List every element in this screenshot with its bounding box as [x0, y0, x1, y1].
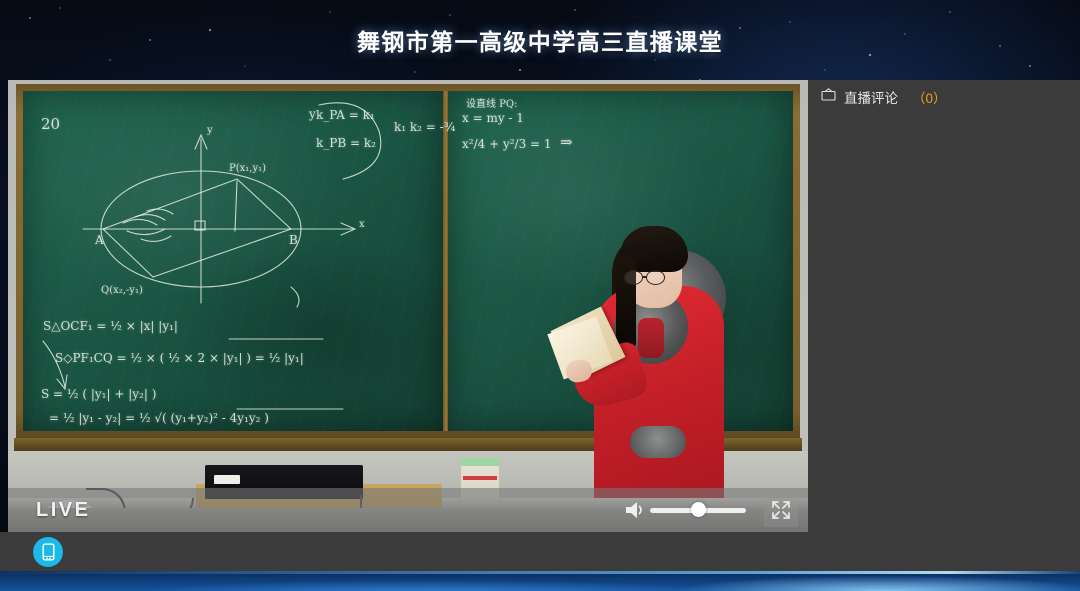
chalk-formula-4: = ½ |y₁ - y₂| = ½ √( (y₁+y₂)² - 4y₁y₂ ): [49, 411, 269, 425]
title-bar: 舞钢市第一高级中学高三直播课堂: [0, 0, 1080, 80]
chalk-diagram-svg: [23, 91, 443, 431]
fullscreen-icon[interactable]: [764, 493, 798, 527]
chalk-r-line3: x²/4 + y²/3 = 1: [462, 137, 552, 151]
chalk-point-q: Q(x₂,-y₁): [101, 285, 143, 296]
teacher-figure: [568, 198, 748, 532]
video-control-bar: LIVE: [8, 488, 808, 532]
video-player[interactable]: 20 y x P(x₁,y₁) A B Q(x₂,-y₁) S△OCF₁ = ½…: [8, 80, 808, 532]
footer-glow-strip: [0, 571, 1080, 591]
video-frame: 20 y x P(x₁,y₁) A B Q(x₂,-y₁) S△OCF₁ = ½…: [8, 80, 808, 532]
chalk-r-line1: 设直线 PQ:: [466, 95, 517, 110]
chalk-axis-x: x: [359, 219, 365, 230]
live-comments-list[interactable]: [808, 114, 1080, 572]
speaker-icon[interactable]: [622, 497, 648, 523]
tv-icon: [821, 88, 836, 106]
mobile-phone-icon[interactable]: [33, 537, 63, 567]
chalk-r-arrow: ⇒: [560, 133, 573, 151]
chalk-formula-2: S◇PF₁CQ = ½ × ( ½ × 2 × |y₁| ) = ½ |y₁|: [55, 351, 304, 365]
volume-slider[interactable]: [650, 508, 746, 513]
teacher-glasses-left: [624, 270, 643, 285]
desk-box-lid: [460, 458, 500, 466]
live-comments-title: 直播评论: [844, 87, 898, 107]
video-controls-right: [622, 493, 798, 527]
chalk-r-line2: x = my - 1: [462, 111, 524, 125]
teacher-glasses-bridge: [643, 276, 647, 278]
chalk-problem-number: 20: [41, 115, 60, 133]
live-comments-count: （0）: [912, 87, 947, 107]
teacher-coat-pocket-fur: [630, 426, 686, 458]
desk-box-stripe: [463, 476, 497, 480]
chalk-axis-y: y: [207, 125, 213, 136]
laptop-label: [214, 475, 240, 484]
chalk-formula-1: S△OCF₁ = ½ × |x| |y₁|: [43, 319, 178, 333]
live-badge: LIVE: [36, 499, 90, 522]
teacher-glasses-right: [646, 270, 665, 285]
volume-slider-handle[interactable]: [691, 502, 706, 517]
page-title: 舞钢市第一高级中学高三直播课堂: [357, 23, 723, 57]
live-classroom-page: 舞钢市第一高级中学高三直播课堂: [0, 0, 1080, 591]
chalk-formula-3: S = ½ ( |y₁| + |y₂| ): [41, 387, 156, 401]
chalk-point-p: P(x₁,y₁): [229, 163, 266, 174]
chalk-slope-1: y: [309, 107, 316, 121]
player-bottom-bar: [0, 532, 808, 572]
blackboard-left-panel: 20 y x P(x₁,y₁) A B Q(x₂,-y₁) S△OCF₁ = ½…: [23, 91, 443, 431]
chalk-point-a: A: [95, 233, 104, 247]
teacher-scarf: [638, 318, 664, 358]
chalk-point-b: B: [289, 233, 298, 247]
live-comments-panel: 直播评论 （0）: [808, 80, 1080, 572]
live-comments-header: 直播评论 （0）: [808, 80, 1080, 114]
